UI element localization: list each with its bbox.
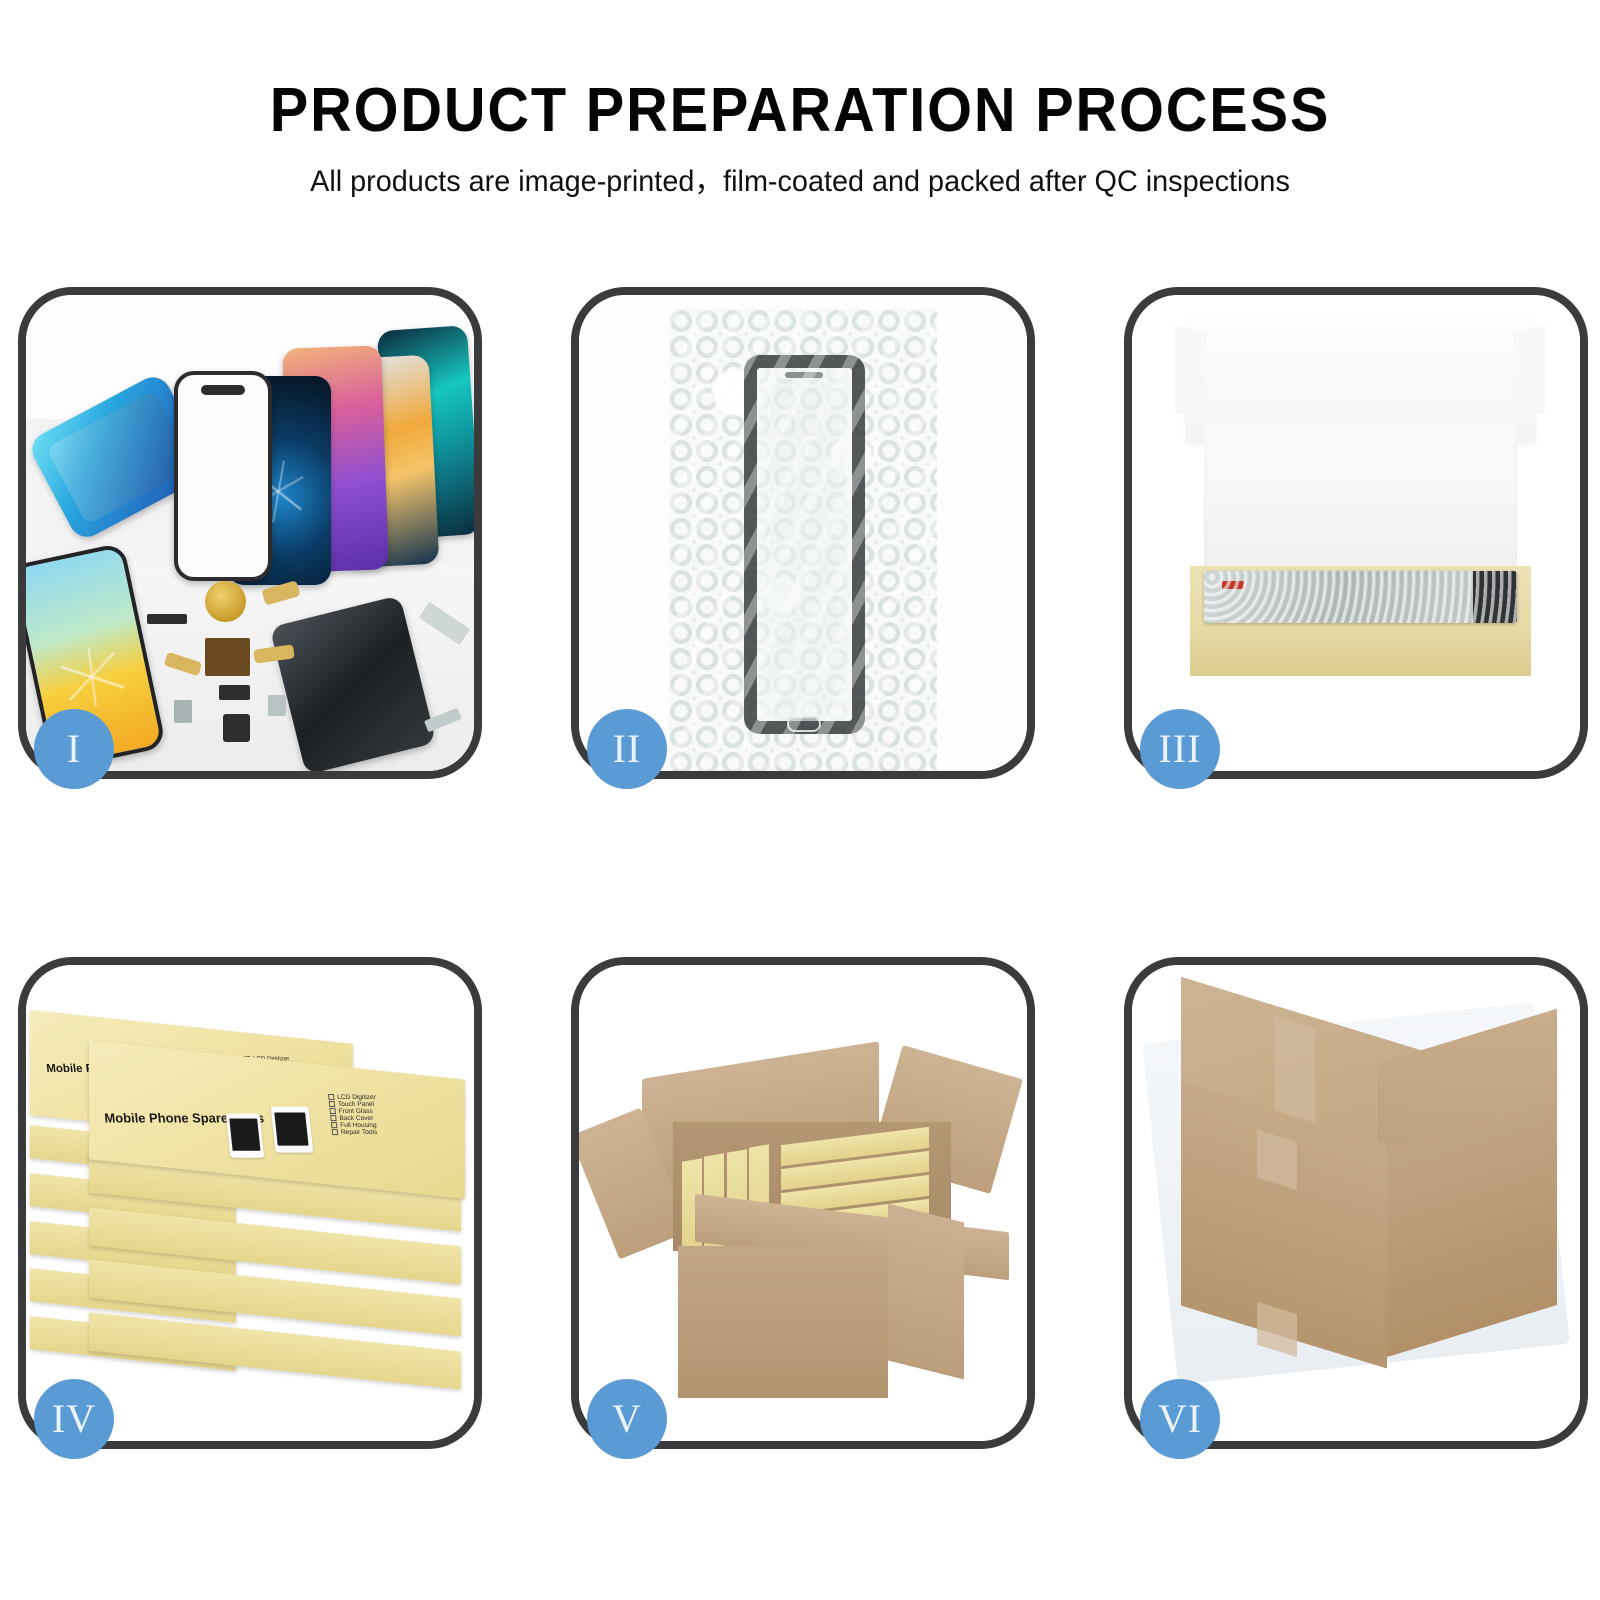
checkbox-icon [330,1123,337,1129]
checkbox-icon [329,1109,336,1115]
checkbox-icon [331,1130,338,1136]
part-connector-block [219,685,250,699]
mailer-box-front-wall [1190,628,1530,676]
product-preparation-infographic: PRODUCT PREPARATION PROCESS All products… [0,0,1600,1600]
step-badge-3: III [1140,709,1220,789]
part-ic-chip-grid [205,638,250,676]
bubble-wrap-sheet [669,309,938,771]
step-badge-5: V [587,1379,667,1459]
step-5-image [579,965,1027,1441]
part-metal-bracket [268,695,286,716]
checkbox-icon [328,1095,335,1101]
wrapped-screen-in-box [1204,571,1518,623]
part-camera-module [223,714,250,743]
step-badge-6: VI [1140,1379,1220,1459]
step-3-image [1132,295,1580,771]
checklist-label: Repair Tools [340,1129,377,1136]
process-step-6: VI [1124,957,1588,1449]
carton-side-face [888,1203,964,1379]
process-step-1: I [18,287,482,779]
step-badge-1: I [34,709,114,789]
carton-front-face [678,1246,889,1398]
step-badge-2: II [587,709,667,789]
page-subtitle: All products are image-printed，film-coat… [32,165,1568,198]
process-step-2: II [571,287,1035,779]
screen-edge-dark [1473,571,1517,623]
step-6-image [1132,965,1580,1441]
box-art-screen-b-front [271,1107,313,1154]
home-button-cutout [787,716,821,732]
phone-front-glass-outline [174,371,273,580]
step-badge-4: IV [34,1379,114,1459]
part-sim-tray [174,700,192,724]
process-step-5: V [571,957,1035,1449]
step-4-image: Mobile Phone Spare Parts LCD Digitizer T… [26,965,474,1441]
checkbox-icon [330,1116,337,1122]
step-1-image [26,295,474,771]
process-step-3: III [1124,287,1588,779]
part-vibration-motor [205,581,245,622]
process-step-4: Mobile Phone Spare Parts LCD Digitizer T… [18,957,482,1449]
box-checklist-front: LCD Digitizer Touch Panel Front Glass Ba… [327,1094,379,1136]
red-sticker [1222,581,1244,589]
screen-frame [744,355,865,734]
step-2-image [579,295,1027,771]
earpiece-slot [785,372,823,378]
checklist-item: Repair Tools [331,1129,379,1136]
box-art-screen-a-front [226,1114,264,1158]
mailer-box-back-wall [1204,424,1518,586]
part-speaker-mesh [147,614,187,624]
process-step-grid: I II [18,287,1588,1467]
checkbox-icon [328,1102,335,1108]
page-title: PRODUCT PREPARATION PROCESS [56,78,1544,143]
header: PRODUCT PREPARATION PROCESS All products… [0,78,1600,198]
